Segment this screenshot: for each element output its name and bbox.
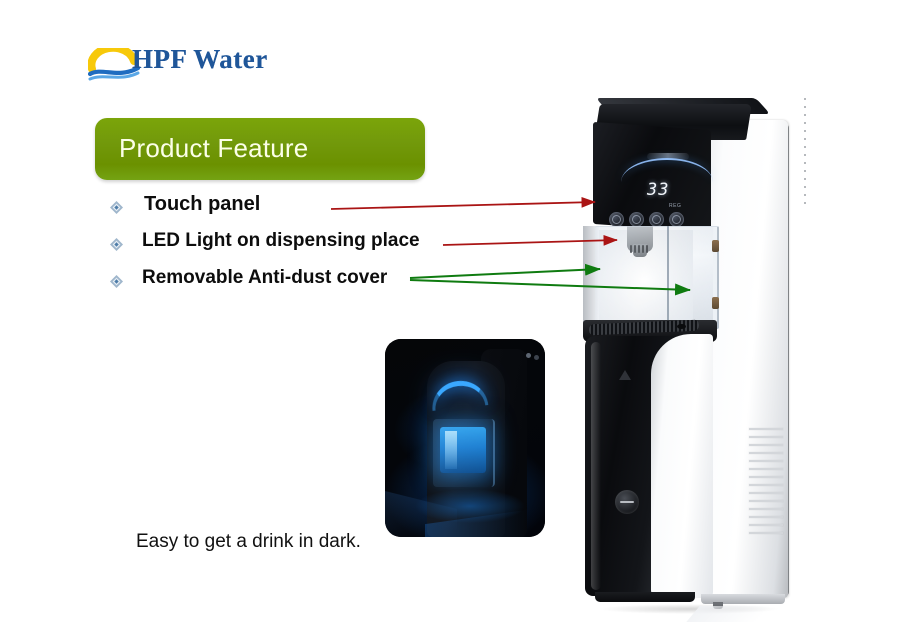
slide-canvas: HPF Water Product Feature Touch panel LE…	[0, 0, 906, 643]
temperature-display: 33	[647, 180, 669, 200]
diamond-bullet-icon	[110, 238, 123, 251]
list-item: Touch panel	[110, 193, 530, 224]
led-night-photo	[385, 339, 545, 537]
brand-logo: HPF Water	[88, 44, 318, 86]
list-item: Removable Anti-dust cover	[110, 267, 530, 298]
purified-water-button[interactable]	[649, 212, 664, 227]
drip-tray-hole	[677, 324, 686, 329]
blue-halo-light	[621, 158, 713, 182]
warning-triangle-icon	[619, 370, 631, 380]
panel-reg-label: REG	[669, 203, 681, 209]
hot-water-button[interactable]	[609, 212, 624, 227]
anti-dust-cover[interactable]	[595, 226, 719, 329]
anti-dust-cover-edge	[667, 226, 669, 328]
section-banner: Product Feature	[95, 118, 440, 180]
cover-hinge-bottom	[712, 297, 719, 309]
cover-hinge-top	[712, 240, 719, 252]
lower-column-highlight	[591, 342, 601, 590]
base-foot-left	[595, 592, 695, 602]
body-logo-badge	[615, 490, 639, 514]
feature-label: Removable Anti-dust cover	[142, 267, 387, 289]
photo-cover-glass	[433, 419, 495, 487]
feature-list: Touch panel LED Light on dispensing plac…	[110, 193, 530, 298]
ventilation-dots	[802, 98, 806, 210]
diamond-bullet-icon	[110, 275, 123, 288]
list-item: LED Light on dispensing place	[110, 230, 530, 261]
lock-button[interactable]	[669, 212, 684, 227]
photo-base-glow	[415, 489, 525, 523]
cold-water-button[interactable]	[629, 212, 644, 227]
front-door-panel	[651, 334, 713, 598]
diamond-bullet-icon	[110, 201, 123, 214]
brand-name: HPF Water	[132, 44, 268, 75]
floor-reflection	[686, 606, 769, 622]
photo-sparkle	[526, 353, 531, 358]
ventilation-slots	[743, 428, 783, 540]
feature-label: Touch panel	[144, 193, 260, 216]
section-title: Product Feature	[119, 133, 308, 164]
photo-caption: Easy to get a drink in dark.	[136, 531, 361, 553]
control-panel-face: 33 REG	[595, 128, 711, 228]
product-photo-water-dispenser: 33 REG	[575, 98, 800, 613]
feature-label: LED Light on dispensing place	[142, 230, 420, 252]
